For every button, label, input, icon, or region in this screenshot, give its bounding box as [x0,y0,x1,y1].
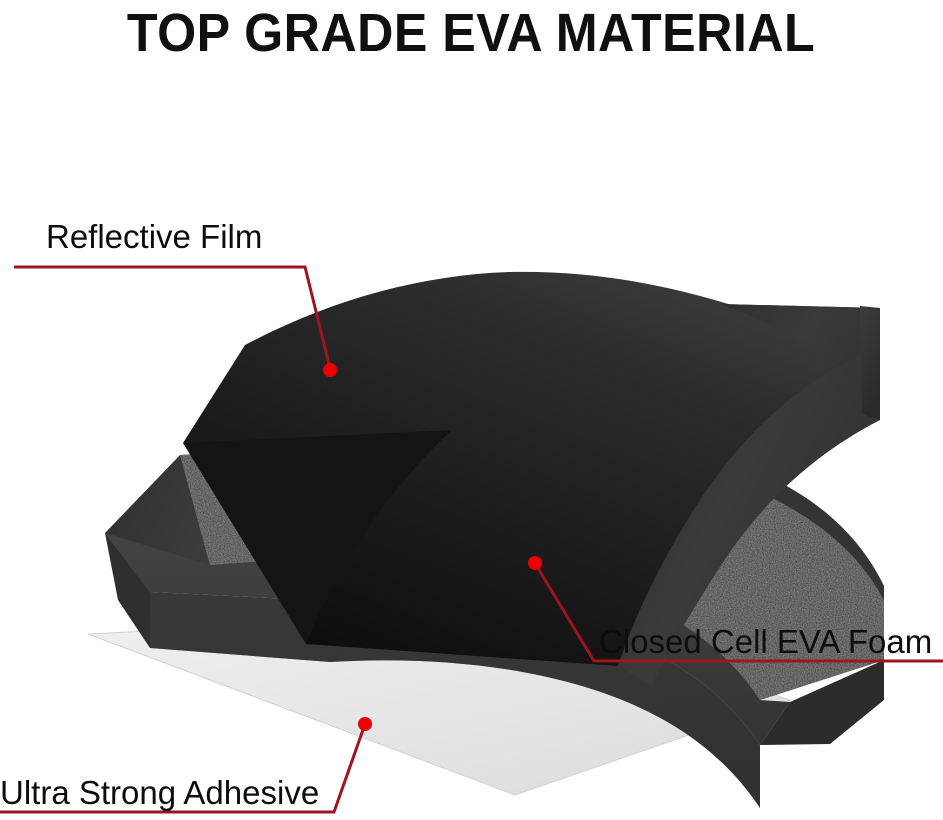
callout-marker-ultra-strong-adhesive [358,717,372,731]
callout-label-closed-cell-eva-foam: Closed Cell EVA Foam [599,625,932,658]
product-feature-graphic: TOP GRADE EVA MATERIAL [0,0,943,820]
callout-marker-closed-cell-eva-foam [528,556,542,570]
callout-label-ultra-strong-adhesive: Ultra Strong Adhesive [0,776,319,809]
callout-label-reflective-film: Reflective Film [46,220,262,253]
callout-marker-reflective-film [323,363,337,377]
product-cross-section-illustration [0,0,943,820]
